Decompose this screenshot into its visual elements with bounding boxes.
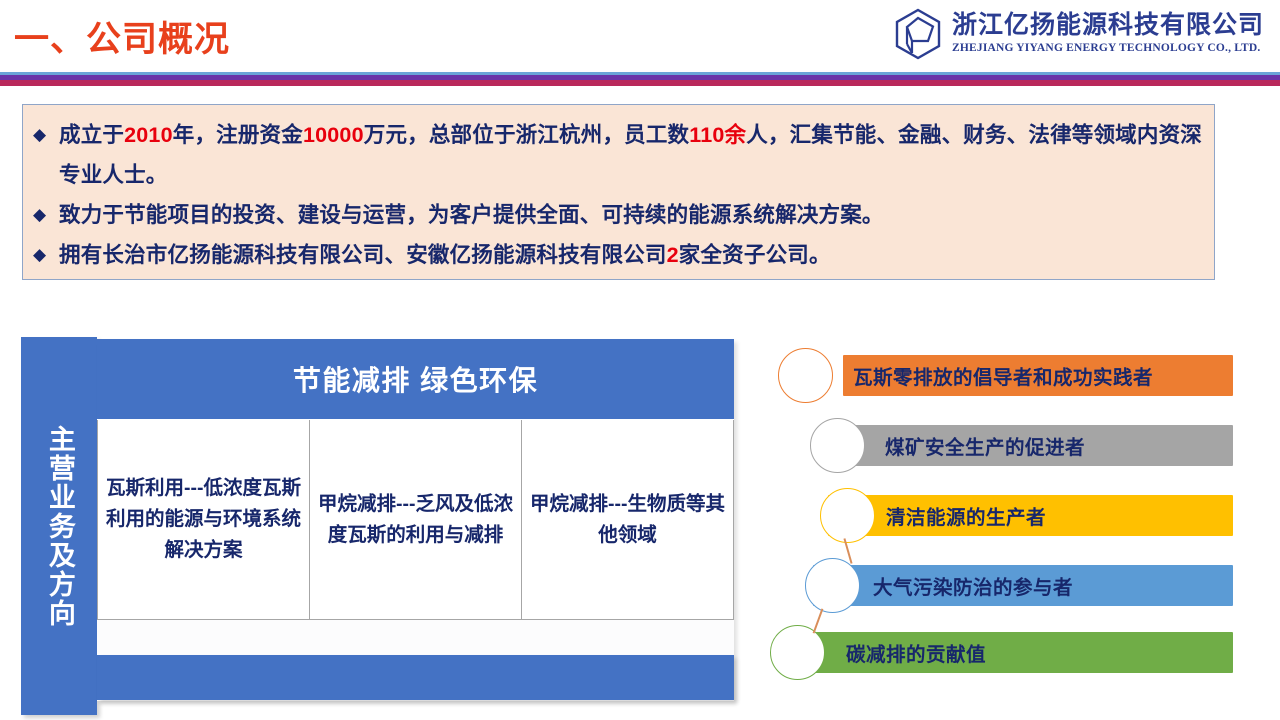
summary-bullet-3: ◆拥有长治市亿扬能源科技有限公司、安徽亿扬能源科技有限公司2家全资子公司。: [33, 235, 1202, 275]
banner-bar-5[interactable]: 碳减排的贡献值: [798, 632, 1233, 673]
bullet-diamond-icon: ◆: [33, 115, 59, 155]
banner-label: 碳减排的贡献值: [846, 638, 986, 667]
summary-text-segment: 拥有长治市亿扬能源科技有限公司、安徽亿扬能源科技有限公司: [59, 243, 667, 267]
summary-text-segment: 致力于节能项目的投资、建设与运营，为客户提供全面、可持续的能源系统解决方案。: [59, 203, 884, 227]
banner-label: 煤矿安全生产的促进者: [885, 431, 1085, 460]
business-cell-label: 甲烷减排---生物质等其他领域: [530, 489, 725, 551]
business-table: 节能减排 绿色环保 瓦斯利用---低浓度瓦斯利用的能源与环境系统解决方案甲烷减排…: [97, 339, 734, 701]
title-divider: [0, 72, 1280, 86]
banner-circle-2: [810, 418, 865, 473]
logo-company-name-cn: 浙江亿扬能源科技有限公司: [952, 13, 1264, 38]
summary-text-segment: 年，注册资金: [173, 123, 303, 147]
summary-bullet-text: 致力于节能项目的投资、建设与运营，为客户提供全面、可持续的能源系统解决方案。: [59, 195, 1202, 235]
business-sidebar: 主营业务及方向: [21, 337, 97, 715]
summary-bullet-1: ◆成立于2010年，注册资金10000万元，总部位于浙江杭州，员工数110余人，…: [33, 115, 1202, 195]
company-logo: 浙江亿扬能源科技有限公司 ZHEJIANG YIYANG ENERGY TECH…: [894, 8, 1264, 60]
summary-bullet-text: 成立于2010年，注册资金10000万元，总部位于浙江杭州，员工数110余人，汇…: [59, 115, 1202, 195]
summary-highlight-value: 10000: [303, 123, 364, 147]
value-proposition-banner-list: 瓦斯零排放的倡导者和成功实践者煤矿安全生产的促进者清洁能源的生产者大气污染防治的…: [770, 340, 1260, 690]
summary-text-segment: 成立于: [59, 123, 124, 147]
summary-bullet-text: 拥有长治市亿扬能源科技有限公司、安徽亿扬能源科技有限公司2家全资子公司。: [59, 235, 1202, 275]
banner-circle-1: [778, 348, 833, 403]
business-cell-1: 瓦斯利用---低浓度瓦斯利用的能源与环境系统解决方案: [97, 420, 310, 620]
business-table-header: 节能减排 绿色环保: [97, 339, 734, 419]
banner-bar-2[interactable]: 煤矿安全生产的促进者: [843, 425, 1233, 466]
business-sidebar-label: 主营业务及方向: [42, 425, 76, 628]
banner-label: 大气污染防治的参与者: [873, 571, 1073, 600]
business-cell-label: 甲烷减排---乏风及低浓度瓦斯的利用与减排: [318, 489, 513, 551]
bullet-diamond-icon: ◆: [33, 235, 59, 275]
slide-header: 一、公司概况 浙江亿扬能源科技有限公司 ZHEJIANG YIYANG ENER…: [0, 0, 1280, 90]
hexagon-cube-logo-icon: [894, 8, 942, 60]
business-cell-label: 瓦斯利用---低浓度瓦斯利用的能源与环境系统解决方案: [106, 473, 301, 566]
business-cell-2: 甲烷减排---乏风及低浓度瓦斯的利用与减排: [309, 420, 522, 620]
business-scope-block: 主营业务及方向 节能减排 绿色环保 瓦斯利用---低浓度瓦斯利用的能源与环境系统…: [21, 337, 734, 717]
page-title: 一、公司概况: [14, 11, 230, 62]
logo-company-name-en: ZHEJIANG YIYANG ENERGY TECHNOLOGY CO., L…: [952, 43, 1264, 55]
banner-circle-4: [805, 558, 860, 613]
summary-highlight-value: 110余: [689, 123, 746, 147]
business-table-row: 瓦斯利用---低浓度瓦斯利用的能源与环境系统解决方案甲烷减排---乏风及低浓度瓦…: [97, 419, 734, 620]
logo-text-block: 浙江亿扬能源科技有限公司 ZHEJIANG YIYANG ENERGY TECH…: [952, 13, 1264, 55]
summary-bullet-2: ◆致力于节能项目的投资、建设与运营，为客户提供全面、可持续的能源系统解决方案。: [33, 195, 1202, 235]
summary-highlight-value: 2: [667, 243, 679, 267]
banner-bar-4[interactable]: 大气污染防治的参与者: [813, 565, 1233, 606]
bullet-diamond-icon: ◆: [33, 195, 59, 235]
banner-label: 清洁能源的生产者: [886, 501, 1046, 530]
banner-connector-2: [813, 608, 824, 633]
summary-text-segment: 家全资子公司。: [679, 243, 831, 267]
divider-line-crimson: [0, 80, 1280, 86]
banner-bar-1[interactable]: 瓦斯零排放的倡导者和成功实践者: [843, 355, 1233, 396]
business-table-footer-bar: [97, 655, 734, 700]
business-table-gap: [97, 620, 734, 636]
business-cell-3: 甲烷减排---生物质等其他领域: [521, 420, 734, 620]
company-summary-box: ◆成立于2010年，注册资金10000万元，总部位于浙江杭州，员工数110余人，…: [22, 104, 1215, 280]
banner-label: 瓦斯零排放的倡导者和成功实践者: [853, 361, 1153, 390]
summary-text-segment: 万元，总部位于浙江杭州，员工数: [364, 123, 690, 147]
banner-circle-5: [770, 625, 825, 680]
banner-bar-3[interactable]: 清洁能源的生产者: [828, 495, 1233, 536]
banner-circle-3: [820, 488, 875, 543]
summary-highlight-value: 2010: [124, 123, 173, 147]
